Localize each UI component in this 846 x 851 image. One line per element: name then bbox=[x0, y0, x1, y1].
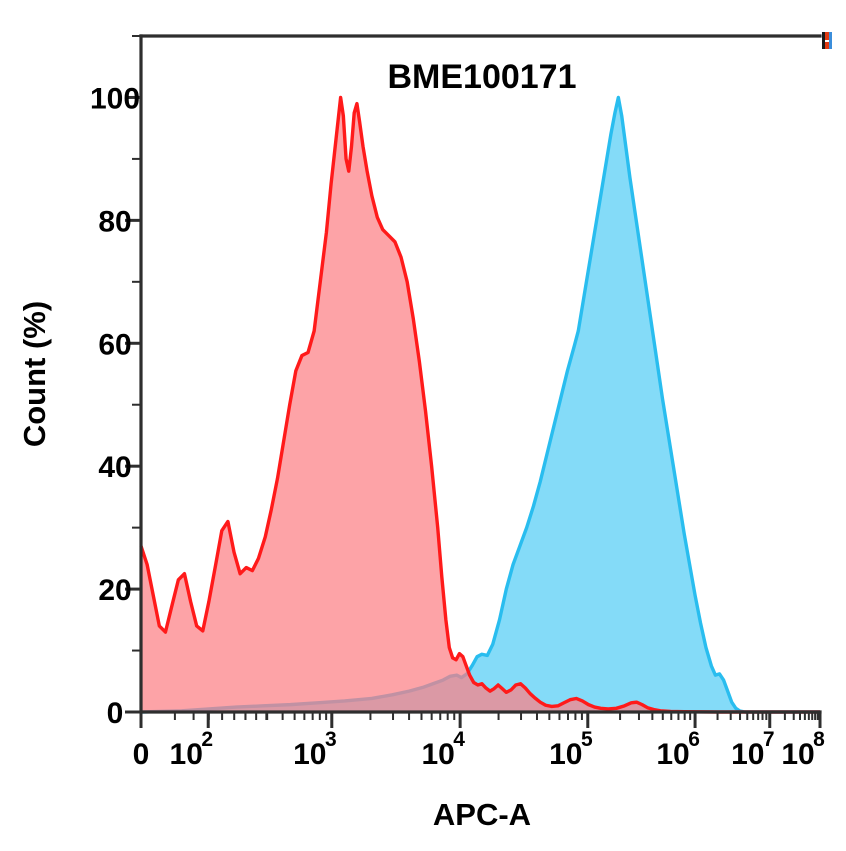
x-tick-label: 104 bbox=[421, 728, 465, 771]
y-tick-label: 80 bbox=[98, 205, 131, 238]
y-axis-label: Count (%) bbox=[17, 301, 52, 447]
x-tick-mantissa: 10 bbox=[731, 738, 764, 771]
x-tick-mantissa: 10 bbox=[781, 738, 814, 771]
x-tick-exponent: 7 bbox=[763, 728, 775, 751]
x-tick-mantissa: 10 bbox=[421, 738, 454, 771]
x-tick-label: 102 bbox=[170, 728, 214, 771]
histogram-plot: 0204060801000102103104105106107108 BME10… bbox=[0, 0, 846, 851]
y-tick-label: 100 bbox=[90, 82, 140, 115]
x-tick-mantissa: 10 bbox=[293, 738, 326, 771]
x-tick-label: 107 bbox=[731, 728, 775, 771]
x-tick-label: 108 bbox=[781, 728, 825, 771]
x-tick-exponent: 2 bbox=[201, 728, 213, 751]
x-tick-label: 0 bbox=[133, 738, 150, 771]
x-tick-mantissa: 0 bbox=[133, 738, 150, 771]
x-tick-mantissa: 10 bbox=[549, 738, 582, 771]
x-tick-mantissa: 10 bbox=[656, 738, 689, 771]
x-tick-label: 103 bbox=[293, 728, 337, 771]
flow-cytometry-figure: 0204060801000102103104105106107108 BME10… bbox=[0, 0, 846, 851]
y-tick-label: 60 bbox=[98, 328, 131, 361]
x-tick-exponent: 5 bbox=[581, 728, 593, 751]
x-axis-label: APC-A bbox=[433, 797, 531, 832]
y-tick-label: 40 bbox=[98, 451, 131, 484]
chart-title: BME100171 bbox=[387, 58, 576, 96]
corner-legend-stripe-icon bbox=[822, 32, 832, 49]
x-tick-label: 105 bbox=[549, 728, 593, 771]
x-tick-exponent: 3 bbox=[325, 728, 337, 751]
y-tick-label: 20 bbox=[98, 574, 131, 607]
x-tick-exponent: 6 bbox=[688, 728, 700, 751]
x-tick-mantissa: 10 bbox=[170, 738, 203, 771]
y-tick-label: 0 bbox=[107, 697, 124, 730]
x-tick-exponent: 8 bbox=[813, 728, 825, 751]
x-tick-label: 106 bbox=[656, 728, 700, 771]
x-tick-exponent: 4 bbox=[453, 728, 465, 751]
